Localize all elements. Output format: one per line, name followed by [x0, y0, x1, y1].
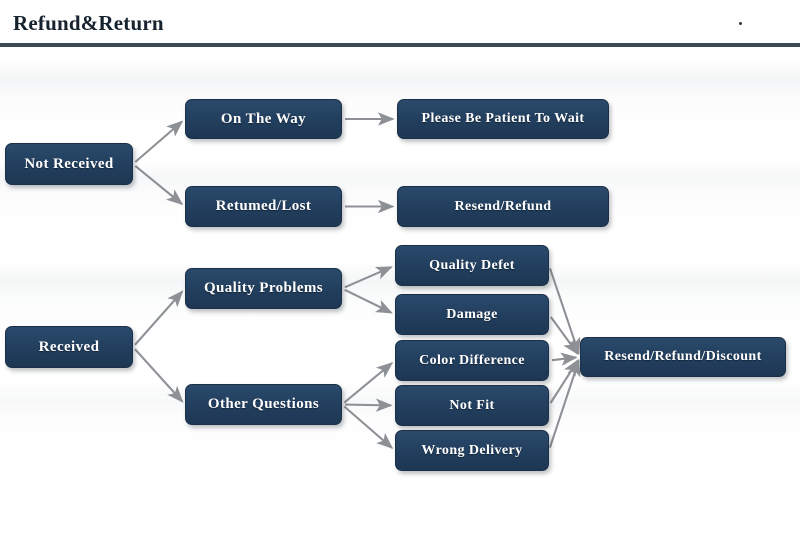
flow-node-resend-refund[interactable]: Resend/Refund [397, 186, 609, 227]
flow-edge-other-questions-to-not-fit [345, 405, 391, 406]
flow-edge-not-fit-to-resend-refund-discount [551, 360, 578, 403]
flow-edge-color-difference-to-resend-refund-discount [552, 357, 576, 360]
flow-edge-not-received-to-on-the-way [135, 122, 182, 162]
flow-node-quality-problems[interactable]: Quality Problems [185, 268, 342, 309]
flow-edge-received-to-quality-problems [135, 292, 182, 345]
flow-edge-other-questions-to-wrong-delivery [344, 407, 392, 448]
flow-edge-not-received-to-returned-lost [135, 166, 182, 204]
flow-node-wrong-delivery[interactable]: Wrong Delivery [395, 430, 549, 471]
flow-node-resend-refund-discount[interactable]: Resend/Refund/Discount [580, 337, 786, 377]
flow-edge-quality-problems-to-quality-defet [345, 267, 392, 287]
flow-node-damage[interactable]: Damage [395, 294, 549, 335]
flow-node-on-the-way[interactable]: On The Way [185, 99, 342, 139]
slide-canvas: Refund&Return Not ReceivedOn The WayRetu… [0, 0, 800, 545]
flow-node-other-questions[interactable]: Other Questions [185, 384, 342, 425]
flow-edge-quality-problems-to-damage [345, 290, 392, 313]
flow-edge-other-questions-to-color-difference [344, 363, 392, 403]
flow-edge-received-to-other-questions [135, 349, 182, 401]
flow-node-color-difference[interactable]: Color Difference [395, 340, 549, 381]
flow-node-please-be-patient[interactable]: Please Be Patient To Wait [397, 99, 609, 139]
flow-node-quality-defet[interactable]: Quality Defet [395, 245, 549, 286]
flow-edge-quality-defet-to-resend-refund-discount [550, 268, 579, 353]
flow-node-received[interactable]: Received [5, 326, 133, 368]
flow-node-not-fit[interactable]: Not Fit [395, 385, 549, 426]
flow-node-not-received[interactable]: Not Received [5, 143, 133, 185]
flow-edge-wrong-delivery-to-resend-refund-discount [550, 361, 579, 448]
flow-node-returned-lost[interactable]: Retumed/Lost [185, 186, 342, 227]
